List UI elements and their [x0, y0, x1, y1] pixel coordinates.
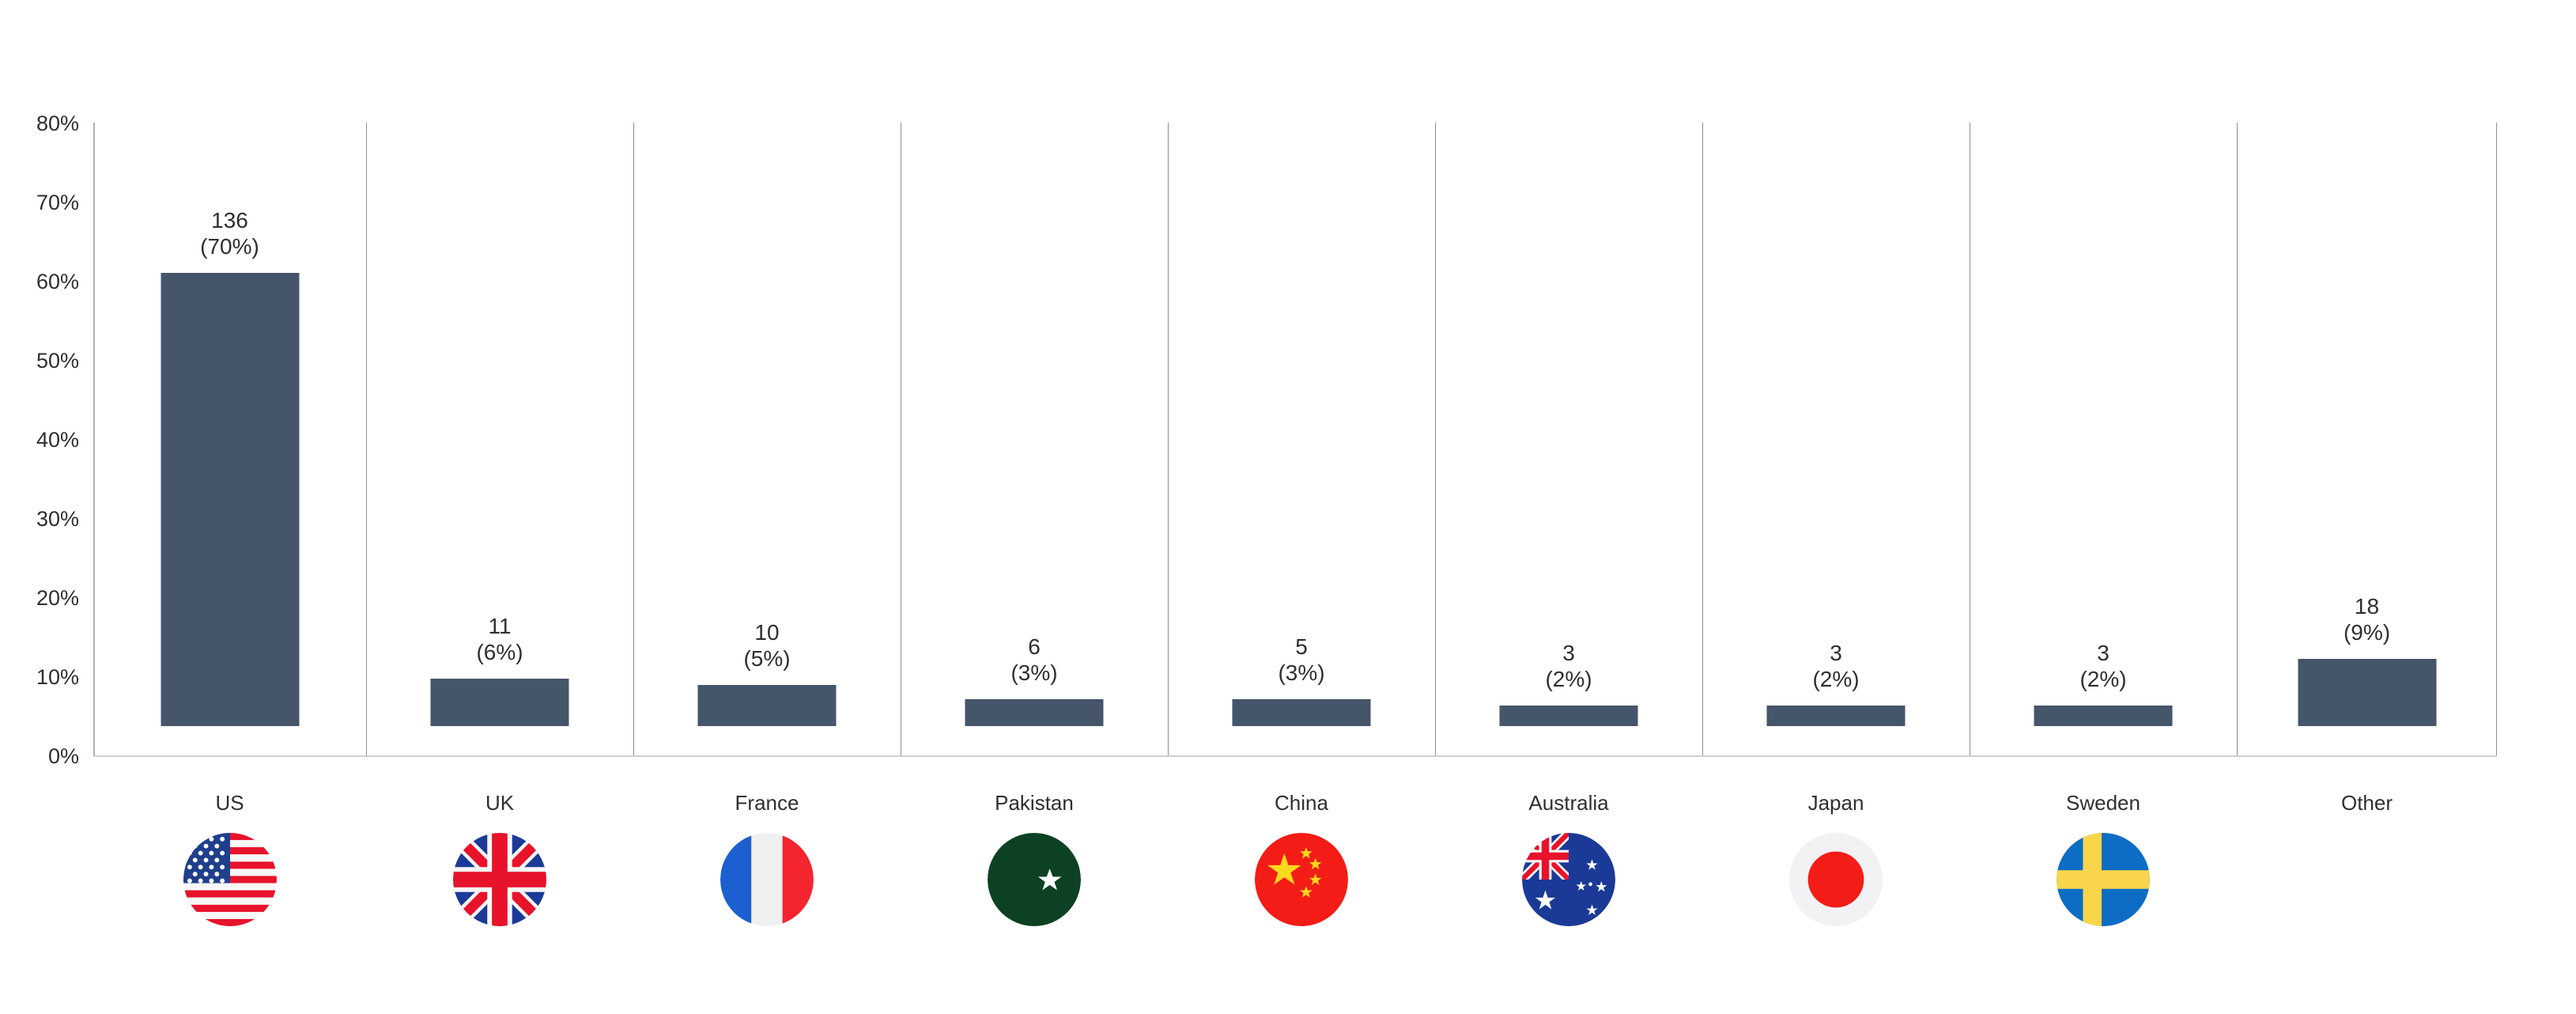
bar-slot: 6 (3%) [901, 93, 1168, 726]
bar-slot: 3 (2%) [1970, 93, 2237, 726]
category-label-us: US [215, 791, 244, 815]
flag-china-icon [1255, 833, 1348, 926]
category-label-pakistan: Pakistan [995, 791, 1074, 815]
bar-value-count: 3 [2079, 640, 2126, 666]
category-group-pakistan[interactable]: 6 (3%) Pakistan [901, 123, 1168, 985]
bar-slot: 10 (5%) [633, 93, 901, 726]
flag-australia-icon [1522, 833, 1615, 926]
bar-value-count: 11 [476, 613, 523, 639]
bar-value-percent: (2%) [2079, 666, 2126, 692]
bar-slot: 11 (6%) [366, 93, 633, 726]
bar-value-count: 10 [743, 619, 790, 645]
y-tick-label: 50% [36, 349, 79, 373]
bar-slot: 18 (9%) [2237, 93, 2497, 726]
flag-pakistan-icon [988, 833, 1081, 926]
category-label-japan: Japan [1808, 791, 1864, 815]
y-tick-label: 20% [36, 586, 79, 610]
y-tick-label: 70% [36, 191, 79, 214]
category-label-sweden: Sweden [2066, 791, 2140, 815]
category-group-australia[interactable]: 3 (2%) Australia [1435, 123, 1702, 985]
flag-us-icon [183, 833, 277, 926]
y-tick-label: 40% [36, 428, 79, 452]
flag-japan-icon [1789, 833, 1883, 926]
bar-value-count: 136 [200, 207, 259, 233]
category-group-china[interactable]: 5 (3%) China [1168, 123, 1435, 985]
bar-slot: 136 (70%) [93, 93, 366, 726]
category-group-other[interactable]: 18 (9%) Other [2237, 123, 2497, 985]
category-label-other: Other [2341, 791, 2393, 815]
category-group-us[interactable]: 136 (70%) US [93, 123, 366, 985]
y-tick-label: 30% [36, 507, 79, 531]
bar-value-percent: (3%) [1278, 660, 1324, 686]
bar-value-count: 3 [1812, 640, 1859, 666]
y-tick-label: 80% [36, 112, 79, 135]
bar-value-percent: (5%) [743, 645, 790, 672]
y-tick-label: 10% [36, 665, 79, 689]
bar-uk[interactable] [431, 679, 569, 726]
bar-japan[interactable] [1767, 706, 1906, 726]
bar-france[interactable] [698, 685, 837, 726]
flag-france-icon [720, 833, 814, 926]
bar-other[interactable] [2298, 659, 2436, 726]
bar-china[interactable] [1233, 699, 1371, 726]
bar-value-percent: (3%) [1010, 660, 1057, 686]
bar-chart: 80% 70% 60% 50% 40% 30% 20% 10% 0% 136 (… [0, 0, 2576, 1014]
category-label-china: China [1275, 791, 1328, 815]
category-group-japan[interactable]: 3 (2%) Japan [1702, 123, 1970, 985]
category-group-uk[interactable]: 11 (6%) UK [366, 123, 633, 985]
bar-slot: 3 (2%) [1435, 93, 1702, 726]
y-tick-label: 0% [48, 744, 79, 768]
y-tick-label: 60% [36, 270, 79, 293]
category-label-uk: UK [485, 791, 514, 815]
flag-uk-icon [453, 833, 546, 926]
bar-value-count: 18 [2344, 593, 2390, 619]
bar-slot: 5 (3%) [1168, 93, 1435, 726]
bar-value-percent: (6%) [476, 639, 523, 665]
category-group-france[interactable]: 10 (5%) France [633, 123, 901, 985]
category-label-france: France [735, 791, 799, 815]
bar-sweden[interactable] [2034, 706, 2173, 726]
bar-value-percent: (2%) [1812, 666, 1859, 692]
bar-value-percent: (9%) [2344, 619, 2390, 645]
category-label-australia: Australia [1528, 791, 1608, 815]
bar-value-count: 5 [1278, 634, 1324, 660]
bar-value-count: 6 [1010, 634, 1057, 660]
bar-australia[interactable] [1500, 706, 1638, 726]
category-group-sweden[interactable]: 3 (2%) Sweden [1970, 123, 2237, 985]
flag-sweden-icon [2057, 833, 2150, 926]
bar-slot: 3 (2%) [1702, 93, 1970, 726]
bar-pakistan[interactable] [965, 699, 1104, 726]
bar-value-count: 3 [1545, 640, 1592, 666]
bar-value-percent: (70%) [200, 233, 259, 259]
bar-us[interactable] [161, 273, 299, 726]
bar-value-percent: (2%) [1545, 666, 1592, 692]
